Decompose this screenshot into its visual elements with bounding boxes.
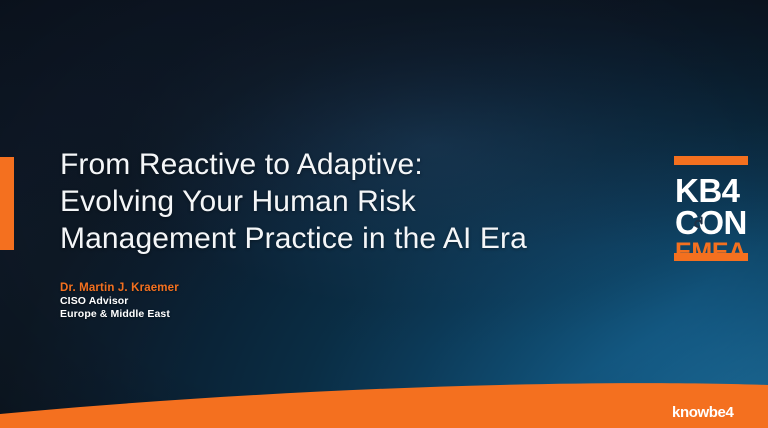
speaker-name: Dr. Martin J. Kraemer bbox=[60, 281, 179, 295]
bottom-wave bbox=[0, 364, 768, 428]
title-line-2: Evolving Your Human Risk bbox=[60, 183, 620, 220]
title-line-1: From Reactive to Adaptive: bbox=[60, 146, 620, 183]
kb4con-emea-logo: KB4 CON EMEA bbox=[674, 155, 748, 261]
speaker-region: Europe & Middle East bbox=[60, 308, 179, 321]
presentation-slide: From Reactive to Adaptive: Evolving Your… bbox=[0, 0, 768, 428]
title-line-3: Management Practice in the AI Era bbox=[60, 220, 620, 257]
logo-top-bar bbox=[674, 156, 748, 165]
left-accent-bar bbox=[0, 157, 14, 250]
logo-bottom-bar bbox=[674, 253, 748, 261]
knowbe4-wordmark: knowbe4 bbox=[672, 404, 734, 421]
slide-title: From Reactive to Adaptive: Evolving Your… bbox=[60, 146, 620, 257]
speaker-block: Dr. Martin J. Kraemer CISO Advisor Europ… bbox=[60, 281, 179, 321]
logo-line-con: CON bbox=[675, 204, 747, 241]
speaker-role: CISO Advisor bbox=[60, 295, 179, 308]
wave-shape bbox=[0, 383, 768, 428]
knowbe4-logo: knowbe4 bbox=[672, 402, 748, 421]
